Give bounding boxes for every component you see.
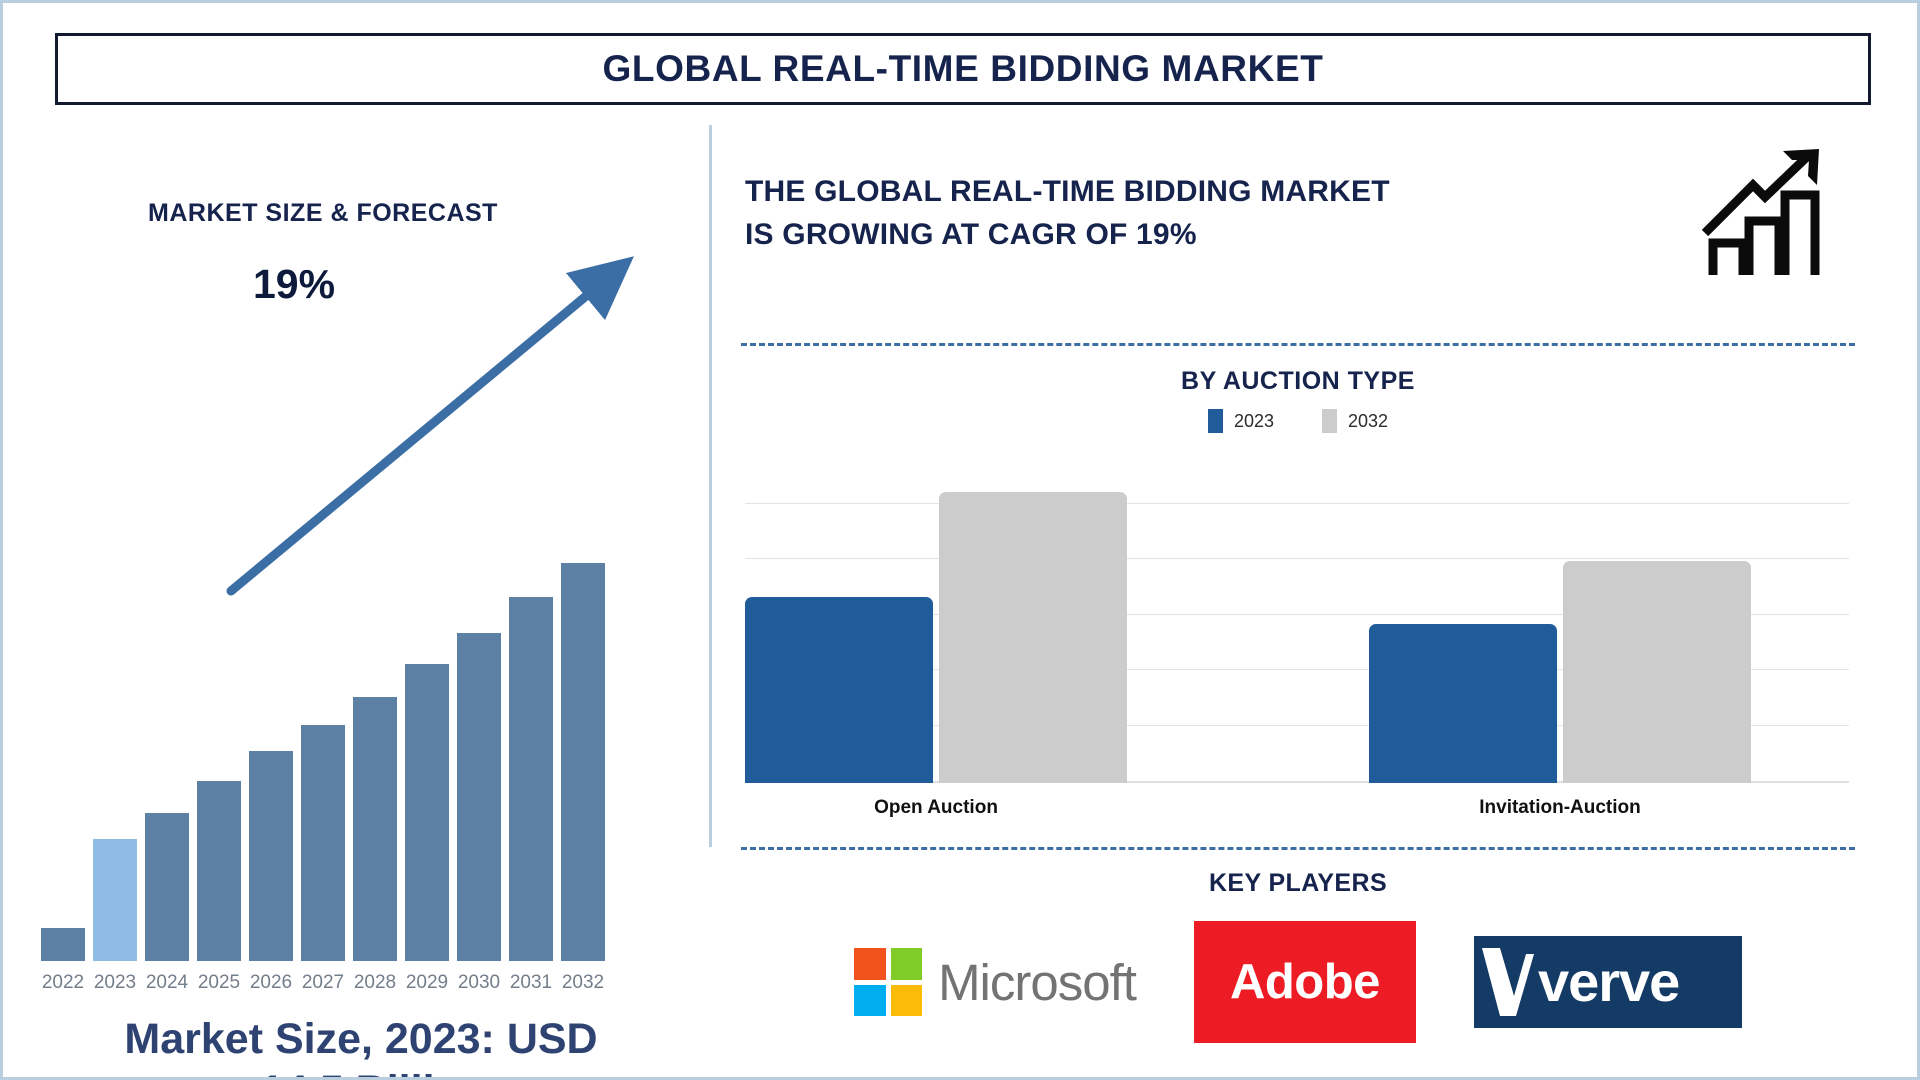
market-size-bar-2030: 2030 (457, 291, 501, 961)
divider-bottom (741, 847, 1855, 850)
x-tick-label: 2024 (137, 972, 197, 994)
bar (41, 928, 85, 961)
verve-wordmark: verve (1538, 954, 1679, 1010)
bar-2023 (745, 597, 933, 783)
market-size-bar-2032: 2032 (561, 291, 605, 961)
legend-item-2032[interactable]: 2032 (1322, 409, 1388, 433)
bar (353, 697, 397, 961)
legend-label: 2032 (1348, 411, 1388, 432)
auction-type-heading: BY AUCTION TYPE (729, 367, 1867, 396)
x-tick-label: 2027 (293, 972, 353, 994)
divider-top (741, 343, 1855, 346)
market-size-bar-2024: 2024 (145, 291, 189, 961)
market-size-bar-2022: 2022 (41, 291, 85, 961)
headline-line-2: IS GROWING AT CAGR OF 19% (745, 214, 1625, 257)
x-tick-label: 2029 (397, 972, 457, 994)
market-size-footnote: Market Size, 2023: USD ~14.5 Billion (23, 1013, 699, 1080)
logo-microsoft: Microsoft (854, 948, 1136, 1016)
market-size-bar-chart: 2022202320242025202620272028202920302031… (37, 291, 697, 961)
microsoft-squares-icon (854, 948, 922, 1016)
auction-chart-legend: 20232032 (729, 409, 1867, 433)
x-tick-label: 2023 (85, 972, 145, 994)
adobe-wordmark: Adobe (1230, 954, 1380, 1010)
x-tick-label: 2032 (553, 972, 613, 994)
footnote-line-1: Market Size, 2023: USD (23, 1013, 699, 1065)
microsoft-square (891, 985, 923, 1017)
market-size-bar-2025: 2025 (197, 291, 241, 961)
panel-divider (709, 125, 712, 847)
headline-line-1: THE GLOBAL REAL-TIME BIDDING MARKET (745, 171, 1625, 214)
logo-verve: verve (1474, 936, 1742, 1028)
market-size-bar-2031: 2031 (509, 291, 553, 961)
x-tick-label: 2025 (189, 972, 249, 994)
market-size-heading: MARKET SIZE & FORECAST (3, 199, 643, 228)
infographic-poster: GLOBAL REAL-TIME BIDDING MARKET MARKET S… (0, 0, 1920, 1080)
market-size-bar-2027: 2027 (301, 291, 345, 961)
key-players-heading: KEY PLAYERS (729, 869, 1867, 898)
microsoft-square (854, 948, 886, 980)
bar (249, 751, 293, 961)
microsoft-square (891, 948, 923, 980)
x-tick-label: Open Auction (745, 797, 1127, 819)
auction-and-players-panel: THE GLOBAL REAL-TIME BIDDING MARKET IS G… (729, 121, 1867, 1080)
key-players-logo-row: MicrosoftAdobeverve (729, 917, 1867, 1047)
bar (457, 633, 501, 961)
x-tick-label: 2030 (449, 972, 509, 994)
market-size-bar-2023: 2023 (93, 291, 137, 961)
legend-swatch (1322, 409, 1337, 433)
bar (197, 781, 241, 961)
x-tick-label: Invitation-Auction (1369, 797, 1751, 819)
bar-group-open-auction: Open Auction (745, 453, 1127, 783)
bar-2032 (1563, 561, 1751, 783)
title-banner: GLOBAL REAL-TIME BIDDING MARKET (55, 33, 1871, 105)
bar (145, 813, 189, 961)
x-tick-label: 2028 (345, 972, 405, 994)
auction-type-bar-chart: Open AuctionInvitation-Auction (745, 453, 1849, 783)
bar (301, 725, 345, 961)
footnote-line-2: ~14.5 Billion (23, 1065, 699, 1080)
verve-chevron-icon (1480, 944, 1536, 1020)
legend-label: 2023 (1234, 411, 1274, 432)
bar-group-invitation-auction: Invitation-Auction (1369, 453, 1751, 783)
microsoft-square (854, 985, 886, 1017)
bar (93, 839, 137, 961)
logo-adobe: Adobe (1194, 921, 1416, 1043)
market-size-bar-2028: 2028 (353, 291, 397, 961)
bar-2032 (939, 492, 1127, 783)
market-size-forecast-panel: MARKET SIZE & FORECAST 19% 2022202320242… (3, 121, 709, 1080)
legend-swatch (1208, 409, 1223, 433)
market-size-bar-2026: 2026 (249, 291, 293, 961)
bar-2023 (1369, 624, 1557, 783)
bar (561, 563, 605, 961)
legend-item-2023[interactable]: 2023 (1208, 409, 1274, 433)
market-size-bar-2029: 2029 (405, 291, 449, 961)
growth-bar-arrow-icon (1691, 139, 1831, 279)
microsoft-wordmark: Microsoft (938, 953, 1136, 1012)
page-title: GLOBAL REAL-TIME BIDDING MARKET (603, 48, 1324, 90)
x-tick-label: 2026 (241, 972, 301, 994)
bar (509, 597, 553, 961)
x-tick-label: 2031 (501, 972, 561, 994)
bar (405, 664, 449, 961)
x-tick-label: 2022 (33, 972, 93, 994)
growth-headline: THE GLOBAL REAL-TIME BIDDING MARKET IS G… (745, 171, 1625, 256)
